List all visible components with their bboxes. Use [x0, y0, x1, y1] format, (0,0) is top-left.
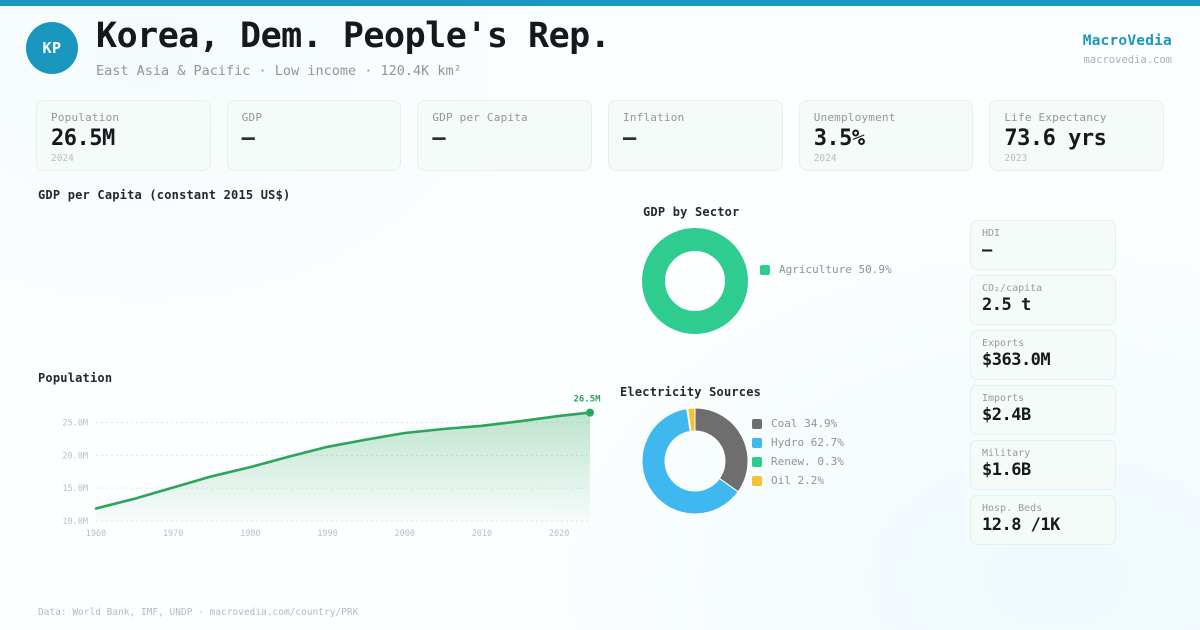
accent-top-bar: [0, 0, 1200, 6]
side-indicator-list: HDI—CO₂/capita2.5 tExports$363.0MImports…: [970, 220, 1116, 545]
legend-item[interactable]: Oil 2.2%: [752, 474, 844, 487]
legend-swatch-icon: [760, 265, 770, 275]
kpi-year: 2024: [51, 153, 196, 164]
legend-swatch-icon: [752, 438, 762, 448]
side-indicator-card[interactable]: Hosp. Beds12.8 /1K: [970, 495, 1116, 545]
side-indicator-card[interactable]: CO₂/capita2.5 t: [970, 275, 1116, 325]
donut-slice[interactable]: [695, 408, 748, 492]
footer-source: Data: World Bank, IMF, UNDP · macrovedia…: [38, 607, 358, 618]
side-indicator-label: Imports: [982, 393, 1104, 404]
side-indicator-card[interactable]: Military$1.6B: [970, 440, 1116, 490]
y-axis-tick: 20.0M: [62, 451, 88, 461]
kpi-year: 2024: [814, 153, 959, 164]
gdp-by-sector-title: GDP by Sector: [643, 205, 740, 219]
legend-item[interactable]: Agriculture 50.9%: [760, 263, 892, 276]
kpi-label: GDP: [242, 111, 387, 124]
side-indicator-value: $363.0M: [982, 350, 1104, 370]
kpi-year: 2023: [1004, 153, 1149, 164]
side-indicator-label: Hosp. Beds: [982, 503, 1104, 514]
kpi-card[interactable]: GDP—: [227, 100, 402, 171]
country-meta: East Asia & Pacific · Low income · 120.4…: [96, 63, 610, 79]
kpi-label: Inflation: [623, 111, 768, 124]
electricity-sources-title: Electricity Sources: [620, 385, 761, 399]
population-chart-title: Population: [38, 371, 112, 385]
side-indicator-label: Military: [982, 448, 1104, 459]
gdp-per-capita-chart: [38, 205, 593, 355]
country-avatar: KP: [26, 22, 78, 74]
kpi-card[interactable]: Inflation—: [608, 100, 783, 171]
legend-swatch-icon: [752, 476, 762, 486]
legend-swatch-icon: [752, 419, 762, 429]
y-axis-tick: 10.0M: [62, 517, 88, 527]
kpi-value: 26.5M: [51, 127, 196, 151]
population-endpoint-label: 26.5M: [573, 395, 601, 405]
side-indicator-label: Exports: [982, 338, 1104, 349]
side-indicator-card[interactable]: Exports$363.0M: [970, 330, 1116, 380]
side-indicator-value: 2.5 t: [982, 295, 1104, 315]
legend-item[interactable]: Renew. 0.3%: [752, 455, 844, 468]
legend-label: Agriculture 50.9%: [779, 263, 892, 276]
side-indicator-value: 12.8 /1K: [982, 515, 1104, 535]
legend-item[interactable]: Hydro 62.7%: [752, 436, 844, 449]
gdp_by_sector-svg: [620, 218, 960, 350]
kpi-card[interactable]: Population26.5M2024: [36, 100, 211, 171]
side-indicator-value: $2.4B: [982, 405, 1104, 425]
kpi-card-row: Population26.5M2024GDP—GDP per Capita—In…: [36, 100, 1164, 171]
page-title: Korea, Dem. People's Rep.: [96, 18, 610, 56]
page-header: KP Korea, Dem. People's Rep. East Asia &…: [26, 18, 610, 79]
x-axis-tick: 2020: [549, 529, 569, 539]
y-axis-tick: 25.0M: [62, 418, 88, 428]
x-axis-tick: 2000: [395, 529, 415, 539]
gdp-by-sector-legend: Agriculture 50.9%: [760, 263, 892, 276]
brand-name: MacroVedia: [1083, 33, 1172, 49]
side-indicator-card[interactable]: Imports$2.4B: [970, 385, 1116, 435]
x-axis-tick: 2010: [472, 529, 492, 539]
kpi-value: —: [623, 127, 768, 151]
gdp-per-capita-empty-plot: [38, 205, 593, 355]
kpi-label: GDP per Capita: [432, 111, 577, 124]
kpi-card[interactable]: Life Expectancy73.6 yrs2023: [989, 100, 1164, 171]
brand-url: macrovedia.com: [1083, 54, 1172, 66]
x-axis-tick: 1970: [163, 529, 183, 539]
x-axis-tick: 1980: [240, 529, 260, 539]
legend-label: Oil 2.2%: [771, 474, 824, 487]
side-indicator-label: CO₂/capita: [982, 283, 1104, 294]
kpi-value: —: [242, 127, 387, 151]
kpi-label: Population: [51, 111, 196, 124]
electricity-sources-legend: Coal 34.9%Hydro 62.7%Renew. 0.3%Oil 2.2%: [752, 417, 844, 487]
gdp-per-capita-chart-title: GDP per Capita (constant 2015 US$): [38, 188, 290, 202]
x-axis-tick: 1990: [317, 529, 337, 539]
y-axis-tick: 15.0M: [62, 484, 88, 494]
kpi-card[interactable]: Unemployment3.5%2024: [799, 100, 974, 171]
side-indicator-label: HDI: [982, 228, 1104, 239]
side-indicator-value: $1.6B: [982, 460, 1104, 480]
kpi-label: Life Expectancy: [1004, 111, 1149, 124]
population-endpoint-marker: [586, 409, 594, 417]
kpi-card[interactable]: GDP per Capita—: [417, 100, 592, 171]
country-profile-page: KP Korea, Dem. People's Rep. East Asia &…: [0, 0, 1200, 630]
population-chart: 10.0M15.0M20.0M25.0M26.5M196019701980199…: [38, 388, 608, 543]
gdp-by-sector-donut: [620, 218, 960, 350]
legend-label: Renew. 0.3%: [771, 455, 844, 468]
kpi-value: 73.6 yrs: [1004, 127, 1149, 151]
side-indicator-value: —: [982, 240, 1104, 260]
kpi-value: 3.5%: [814, 127, 959, 151]
legend-label: Coal 34.9%: [771, 417, 837, 430]
legend-item[interactable]: Coal 34.9%: [752, 417, 844, 430]
side-indicator-card[interactable]: HDI—: [970, 220, 1116, 270]
legend-label: Hydro 62.7%: [771, 436, 844, 449]
donut-slice[interactable]: [654, 240, 737, 323]
legend-swatch-icon: [752, 457, 762, 467]
kpi-value: —: [432, 127, 577, 151]
x-axis-tick: 1960: [86, 529, 106, 539]
kpi-label: Unemployment: [814, 111, 959, 124]
brand[interactable]: MacroVedia macrovedia.com: [1083, 33, 1172, 66]
